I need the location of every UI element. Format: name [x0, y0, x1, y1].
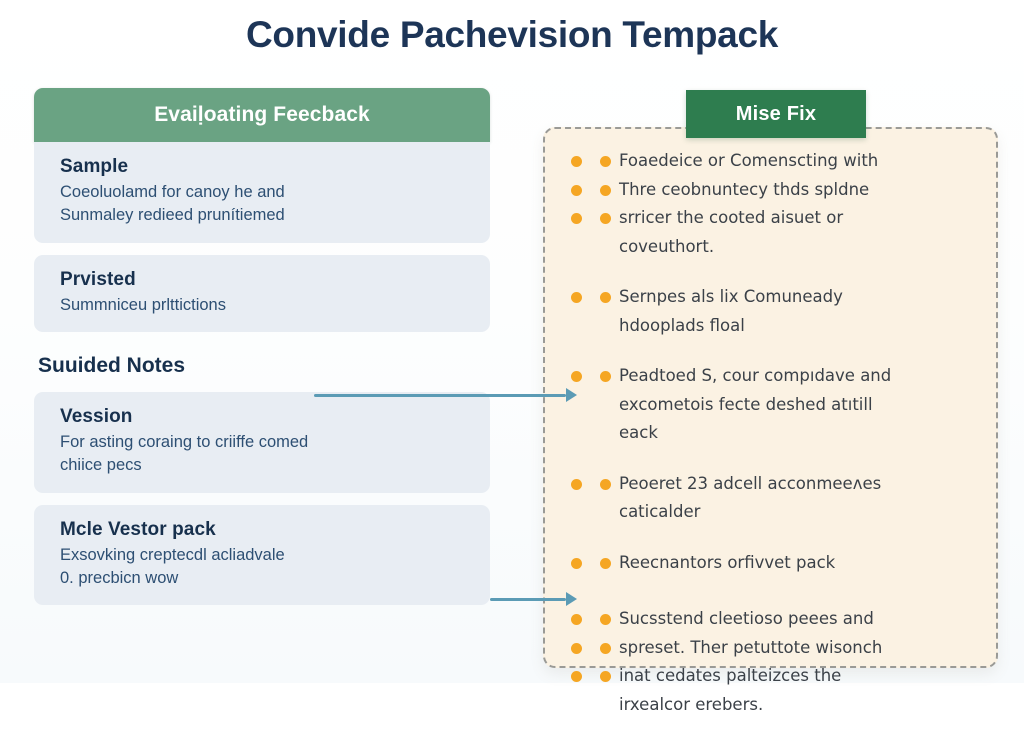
bullet-dot-icon	[571, 213, 582, 224]
bullet-text-line: inat cedates palteizces the	[619, 662, 982, 691]
section-heading-suuided-notes: Suuided Notes	[38, 354, 490, 378]
bullet-list: Foaedeice or Comenscting withThre ceobnu…	[545, 147, 996, 741]
bullet-dot-row	[545, 289, 619, 318]
bullet-dot-row	[545, 182, 619, 211]
card-sample-title: Sample	[60, 156, 470, 178]
bullet-dot-icon	[600, 558, 611, 569]
card-vession[interactable]: Vession For asting coraing to criiffe co…	[34, 392, 490, 493]
bullet-dot-group	[545, 147, 619, 239]
bullet-text-line: caticalder	[619, 498, 982, 527]
left-panel-header-label: Evaiḷoating Feecback	[154, 103, 370, 127]
bullet-dot-icon	[571, 643, 582, 654]
bullet-dot-row	[545, 611, 619, 640]
bullet-dot-icon	[600, 671, 611, 682]
bullet-text-line: Thre ceobnuntecy thds spldne	[619, 176, 982, 205]
bullet-dot-group	[545, 362, 619, 397]
bullet-dot-icon	[600, 371, 611, 382]
bullet-dot-icon	[571, 479, 582, 490]
bullet-text: Peadtoed S, cour compıdave andexcometois…	[619, 362, 982, 448]
bullet-text-line: eack	[619, 419, 982, 448]
bullet-text: Sucsstend cleetioso peees andspreset. Th…	[619, 605, 982, 719]
card-mcle-vestor-pack-body: Exsovking creptecdl acliadvale 0. precbi…	[60, 544, 470, 590]
section-heading-label: Suuided Notes	[38, 354, 185, 377]
bullet-item: Reecnantors orfivvet pack	[545, 549, 982, 584]
bullet-text-line: Sucsstend cleetioso peees and	[619, 605, 982, 634]
bullet-dot-icon	[600, 185, 611, 196]
bullet-text-line: srricer the cooted aisuet or	[619, 204, 982, 233]
bullet-dot-group	[545, 283, 619, 318]
card-vession-body: For asting coraing to criiffe comed chii…	[60, 431, 470, 477]
bullet-text-line: irxealcor erebers.	[619, 691, 982, 720]
card-prvisted-title: Prvisted	[60, 269, 470, 291]
bullet-dot-row	[545, 153, 619, 182]
bullet-dot-icon	[571, 558, 582, 569]
bullet-dot-icon	[571, 671, 582, 682]
bullet-text-line: Reecnantors orfivvet pack	[619, 549, 982, 578]
card-sample[interactable]: Sample Coeoluolamd for canoy he and Sunm…	[34, 142, 490, 243]
card-mcle-vestor-pack-body-line: 0. precbicn wow	[60, 567, 470, 590]
bullet-text-line: hdooplads floal	[619, 312, 982, 341]
mise-fix-badge[interactable]: Mise Fix	[686, 90, 866, 138]
card-prvisted-body-line: Summniceu prlttictions	[60, 294, 470, 317]
bullet-dot-row	[545, 368, 619, 397]
card-sample-body-line: Coeoluolamd for canoy he and	[60, 181, 470, 204]
bullet-item: Peoeret 23 adcell acconmeeʌescaticalder	[545, 470, 982, 527]
bullet-dot-icon	[571, 156, 582, 167]
card-sample-body: Coeoluolamd for canoy he and Sunmaley re…	[60, 181, 470, 227]
bullet-dot-icon	[600, 156, 611, 167]
card-mcle-vestor-pack-title: Mcle Vestor pack	[60, 519, 470, 541]
bullet-dot-icon	[571, 371, 582, 382]
page-title: Convide Pachevision Tempack	[0, 14, 1024, 56]
card-vession-title: Vession	[60, 406, 470, 428]
bullet-text-line: coveuthort.	[619, 233, 982, 262]
bullet-item: Foaedeice or Comenscting withThre ceobnu…	[545, 147, 982, 261]
bullet-dot-icon	[600, 213, 611, 224]
card-prvisted[interactable]: Prvisted Summniceu prlttictions	[34, 255, 490, 333]
bullet-text: Foaedeice or Comenscting withThre ceobnu…	[619, 147, 982, 261]
bullet-text-line: Foaedeice or Comenscting with	[619, 147, 982, 176]
card-vession-body-line: chiice pecs	[60, 454, 470, 477]
bullet-text-line: excometois fecte deshed atıtill	[619, 391, 982, 420]
card-mcle-vestor-pack[interactable]: Mcle Vestor pack Exsovking creptecdl acl…	[34, 505, 490, 606]
card-sample-body-line: Sunmaley redieed prunítiemed	[60, 204, 470, 227]
mise-fix-badge-label: Mise Fix	[736, 103, 817, 126]
bullet-dot-icon	[571, 614, 582, 625]
bullet-dot-icon	[600, 643, 611, 654]
bullet-dot-row	[545, 555, 619, 584]
bullet-dot-icon	[600, 614, 611, 625]
card-vession-body-line: For asting coraing to criiffe comed	[60, 431, 470, 454]
bullet-text: Peoeret 23 adcell acconmeeʌescaticalder	[619, 470, 982, 527]
bullet-dot-group	[545, 549, 619, 584]
bullet-text-line: Sernpes als lix Comuneady	[619, 283, 982, 312]
bullet-text: Reecnantors orfivvet pack	[619, 549, 982, 578]
bullet-dot-row	[545, 476, 619, 505]
bullet-item: Peadtoed S, cour compıdave andexcometois…	[545, 362, 982, 448]
bullet-dot-icon	[600, 479, 611, 490]
bullet-text-line: spreset. Ther petuttote wisonch	[619, 634, 982, 663]
bullet-dot-group	[545, 470, 619, 505]
card-prvisted-body: Summniceu prlttictions	[60, 294, 470, 317]
bullet-text-line: Peoeret 23 adcell acconmeeʌes	[619, 470, 982, 499]
bullet-dot-row	[545, 640, 619, 669]
bullet-dot-row	[545, 668, 619, 697]
bullet-dot-icon	[571, 185, 582, 196]
bullet-dot-icon	[600, 292, 611, 303]
bullet-dot-row	[545, 210, 619, 239]
bullet-item: Sucsstend cleetioso peees andspreset. Th…	[545, 605, 982, 719]
bullet-text: Sernpes als lix Comuneadyhdooplads floal	[619, 283, 982, 340]
bullet-item: Sernpes als lix Comuneadyhdooplads floal	[545, 283, 982, 340]
bullet-text-line: Peadtoed S, cour compıdave and	[619, 362, 982, 391]
right-panel: Foaedeice or Comenscting withThre ceobnu…	[543, 127, 998, 668]
left-column: Evaiḷoating Feecback Sample Coeoluolamd …	[34, 88, 490, 605]
card-mcle-vestor-pack-body-line: Exsovking creptecdl acliadvale	[60, 544, 470, 567]
left-panel-header: Evaiḷoating Feecback	[34, 88, 490, 142]
bullet-dot-icon	[571, 292, 582, 303]
